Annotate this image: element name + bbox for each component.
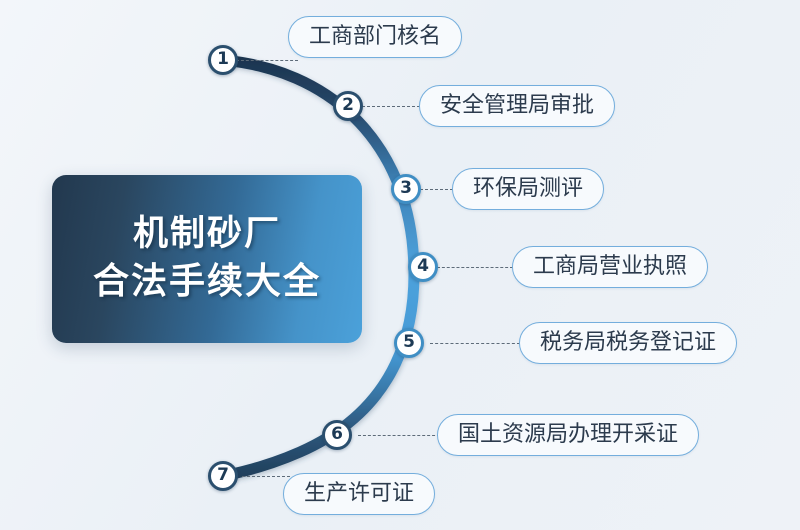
step-badge-5[interactable]: 5 xyxy=(394,328,424,358)
step-number-4: 4 xyxy=(417,258,429,275)
connector-step-3 xyxy=(420,189,453,190)
connector-step-6 xyxy=(358,435,440,436)
connector-step-7 xyxy=(242,476,290,477)
step-number-3: 3 xyxy=(400,180,412,197)
step-label-text-7: 生产许可证 xyxy=(304,483,414,505)
step-number-2: 2 xyxy=(342,97,354,114)
connector-step-5 xyxy=(430,343,520,344)
step-label-text-1: 工商部门核名 xyxy=(309,26,441,48)
step-label-pill-4[interactable]: 工商局营业执照 xyxy=(512,246,708,288)
step-label-pill-7[interactable]: 生产许可证 xyxy=(283,473,435,515)
title-line-1: 机制砂厂 xyxy=(133,214,281,255)
step-label-pill-5[interactable]: 税务局税务登记证 xyxy=(519,322,737,364)
step-badge-6[interactable]: 6 xyxy=(322,420,352,450)
step-label-text-3: 环保局测评 xyxy=(473,178,583,200)
step-label-text-4: 工商局营业执照 xyxy=(533,256,687,278)
step-label-text-5: 税务局税务登记证 xyxy=(540,332,716,354)
step-number-5: 5 xyxy=(403,334,415,351)
step-number-6: 6 xyxy=(331,426,343,443)
step-label-text-2: 安全管理局审批 xyxy=(440,95,594,117)
title-line-2: 合法手续大全 xyxy=(93,261,321,303)
connector-step-4 xyxy=(437,267,513,268)
step-badge-3[interactable]: 3 xyxy=(391,174,421,204)
step-label-pill-1[interactable]: 工商部门核名 xyxy=(288,16,462,58)
infographic-canvas: 机制砂厂 合法手续大全 1 工商部门核名 2 安全管理局审批 3 环保局测评 4… xyxy=(0,0,800,530)
connector-step-1 xyxy=(236,60,298,61)
title-card: 机制砂厂 合法手续大全 xyxy=(52,175,362,343)
step-badge-1[interactable]: 1 xyxy=(208,45,238,75)
step-badge-7[interactable]: 7 xyxy=(208,461,238,491)
step-label-pill-6[interactable]: 国土资源局办理开采证 xyxy=(437,414,699,456)
step-number-7: 7 xyxy=(217,467,229,484)
step-number-1: 1 xyxy=(217,51,229,68)
step-badge-4[interactable]: 4 xyxy=(408,252,438,282)
step-label-pill-2[interactable]: 安全管理局审批 xyxy=(419,85,615,127)
step-badge-2[interactable]: 2 xyxy=(333,91,363,121)
connector-step-2 xyxy=(362,106,420,107)
step-label-text-6: 国土资源局办理开采证 xyxy=(458,424,678,446)
step-label-pill-3[interactable]: 环保局测评 xyxy=(452,168,604,210)
